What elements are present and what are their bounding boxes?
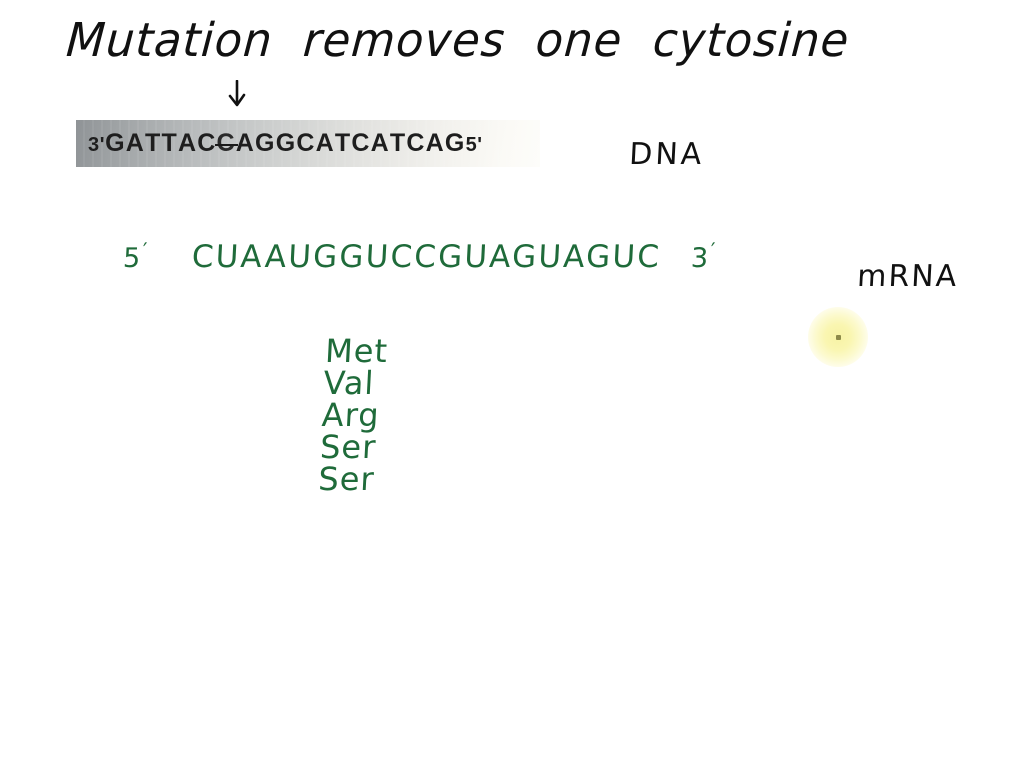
dna-label: DNA <box>628 140 705 170</box>
dna-base: G <box>105 129 126 158</box>
page-title: Mutation removes one cytosine <box>65 18 851 65</box>
dna-base: A <box>178 129 197 158</box>
down-arrow-icon <box>224 80 250 110</box>
mrna-prime-5-group: 5′ <box>122 240 148 272</box>
dna-base: A <box>316 129 335 158</box>
prime-tick-icon: ′ <box>710 238 717 262</box>
dna-prime-5: 5' <box>466 134 483 157</box>
mrna-sequence-row: 5′ CUAAUGGUCCGUAGUAGUC 3′ <box>122 240 716 273</box>
dna-base: C <box>296 129 315 158</box>
mrna-label: mRNA <box>856 262 959 292</box>
dna-base: T <box>162 129 178 158</box>
dna-base: G <box>445 129 466 158</box>
dna-prime-3: 3' <box>88 134 105 157</box>
dna-base: T <box>335 129 351 158</box>
dna-sequence-text: 3' G A T T A C C A G G C A T C A T C A G… <box>76 129 483 158</box>
dna-base: G <box>255 129 276 158</box>
mrna-prime-5: 5 <box>122 243 142 274</box>
mrna-prime-3-group: 3′ <box>690 240 716 272</box>
mrna-prime-3: 3 <box>690 243 710 274</box>
amino-acid: Ser <box>317 460 375 498</box>
dna-base: A <box>126 129 145 158</box>
dna-base: G <box>276 129 297 158</box>
mrna-sequence-text: CUAAUGGUCCGUAGUAGUC <box>191 242 662 273</box>
dna-sequence-strip: 3' G A T T A C C A G G C A T C A T C A G… <box>76 120 540 167</box>
dna-base: T <box>145 129 161 158</box>
cursor-dot <box>836 335 841 340</box>
dna-base: T <box>390 129 406 158</box>
dna-base: C <box>351 129 370 158</box>
deleted-cytosine: C <box>217 129 236 158</box>
dna-base: A <box>426 129 445 158</box>
prime-tick-icon: ′ <box>142 238 149 262</box>
dna-base: A <box>371 129 390 158</box>
whiteboard-canvas: Mutation removes one cytosine 3' G A T T… <box>0 0 1024 768</box>
dna-base: A <box>236 129 255 158</box>
dna-base: C <box>406 129 425 158</box>
amino-acid-row: Met Val Arg Ser Ser <box>271 303 418 527</box>
